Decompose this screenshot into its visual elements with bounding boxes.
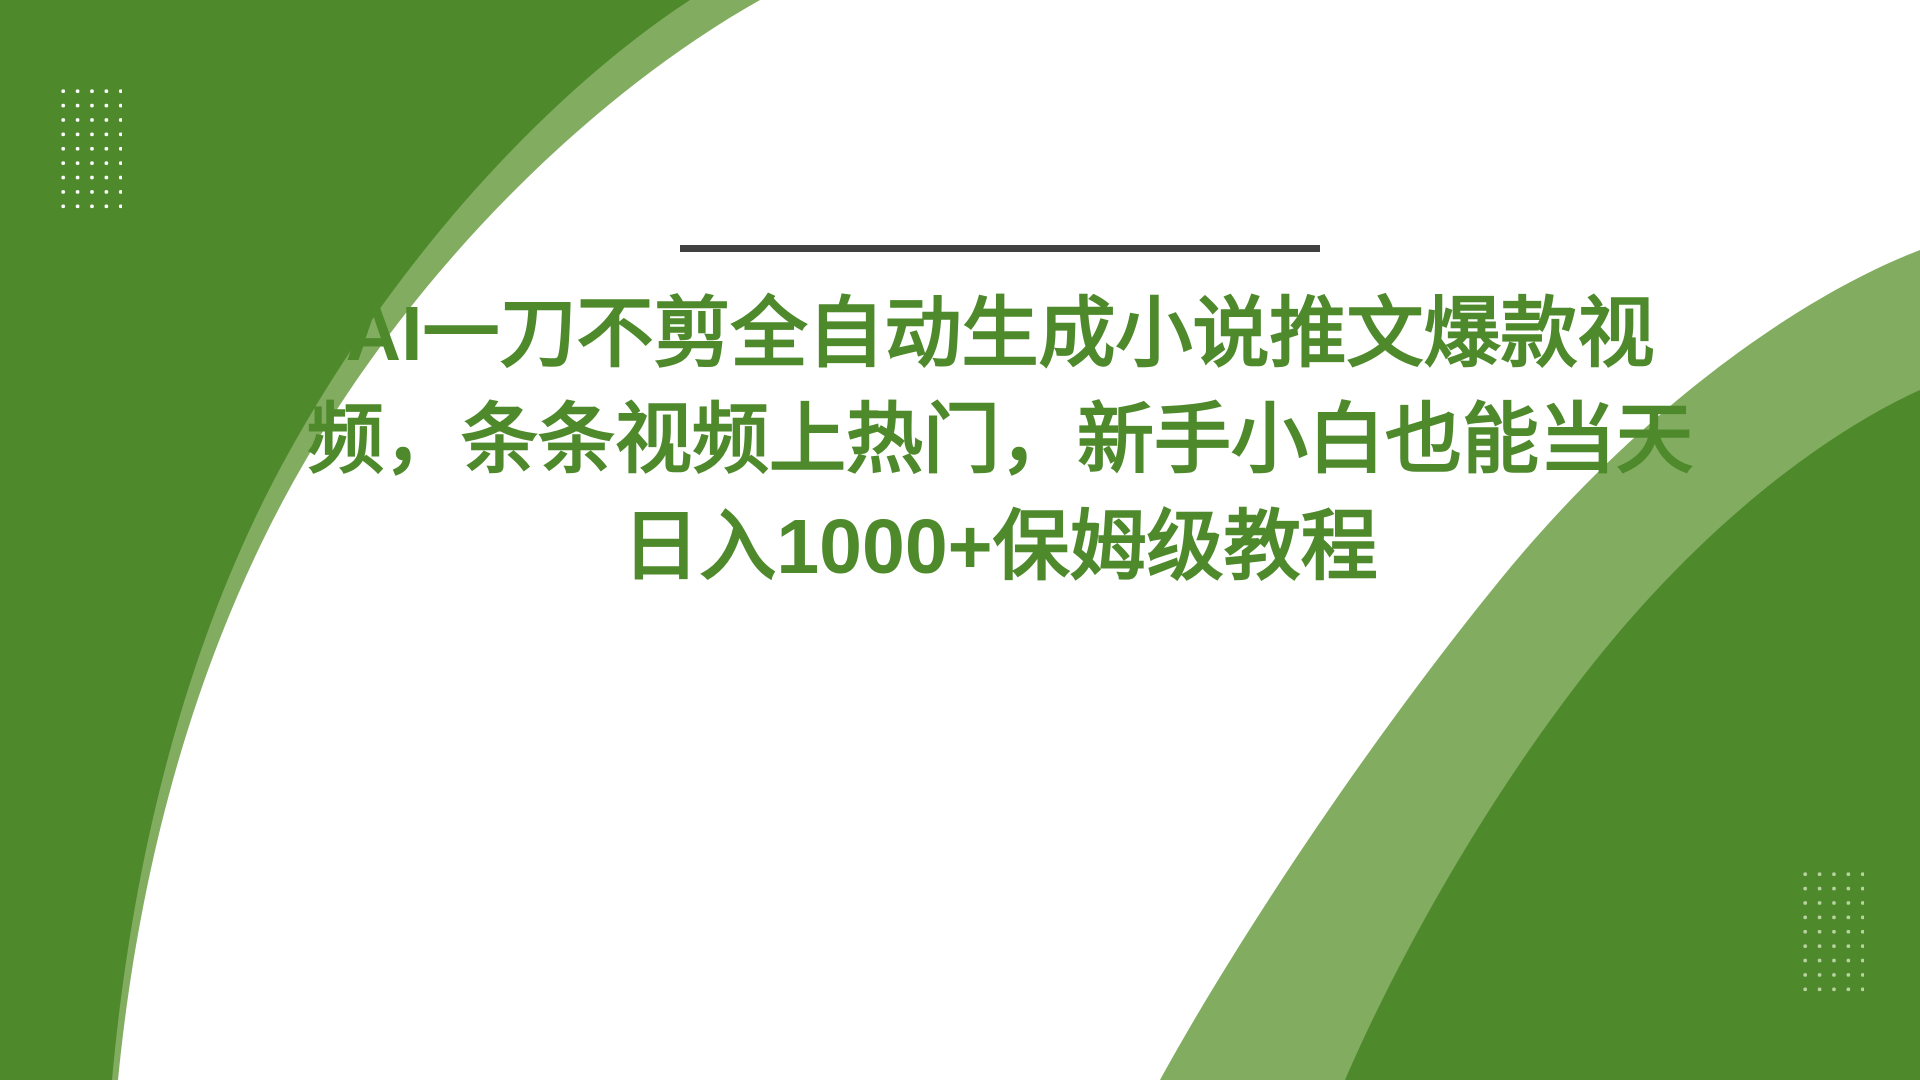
title-divider-rule [680,245,1320,252]
poster-content: AI一刀不剪全自动生成小说推文爆款视频，条条视频上热门，新手小白也能当天日入10… [0,0,1920,1080]
poster-canvas: AI一刀不剪全自动生成小说推文爆款视频，条条视频上热门，新手小白也能当天日入10… [0,0,1920,1080]
page-title: AI一刀不剪全自动生成小说推文爆款视频，条条视频上热门，新手小白也能当天日入10… [270,281,1730,600]
